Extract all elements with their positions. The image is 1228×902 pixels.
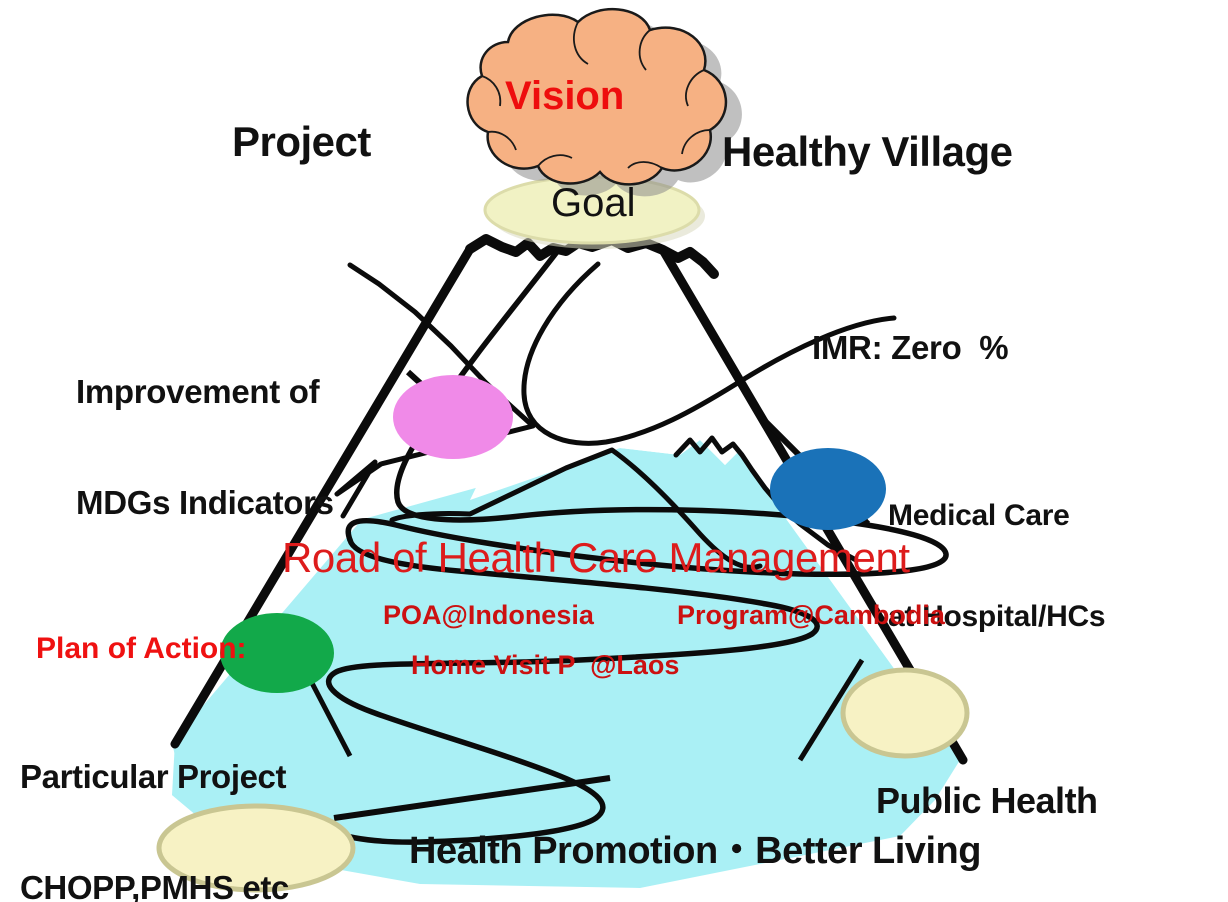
label-program-cambodia: Program@Cambodia (677, 600, 945, 630)
label-goal: Goal (551, 181, 636, 226)
label-particular-project: Particular Project CHOPP,PMHS etc (20, 685, 289, 902)
label-medical-care: Medical Care at Hospital/HCs (888, 432, 1105, 701)
blue-milestone-ellipse[interactable] (770, 448, 886, 530)
label-particular-line1: Particular Project (20, 759, 289, 796)
label-health-promotion: Health Promotion・Better Living (409, 830, 981, 873)
label-vision: Vision (505, 74, 624, 119)
label-mdg-line1: Improvement of (76, 374, 334, 411)
label-medical-line1: Medical Care (888, 499, 1105, 533)
label-home-visit-laos: Home Visit P @Laos (411, 650, 679, 680)
label-project: Project (232, 118, 371, 165)
label-healthy-village: Healthy Village (722, 128, 1013, 175)
pink-milestone-ellipse[interactable] (393, 375, 513, 459)
label-mdg-line2: MDGs Indicators (76, 485, 334, 522)
label-road-of-health-care-management: Road of Health Care Management (282, 534, 910, 581)
label-particular-line2: CHOPP,PMHS etc (20, 870, 289, 902)
label-imr: IMR: Zero % (812, 330, 1008, 367)
diagram-canvas: Project Vision Healthy Village Goal Impr… (0, 0, 1228, 902)
label-public-line1: Public Health (876, 781, 1146, 821)
label-plan-of-action: Plan of Action: (36, 632, 247, 666)
label-poa-indonesia: POA@Indonesia (383, 600, 594, 630)
